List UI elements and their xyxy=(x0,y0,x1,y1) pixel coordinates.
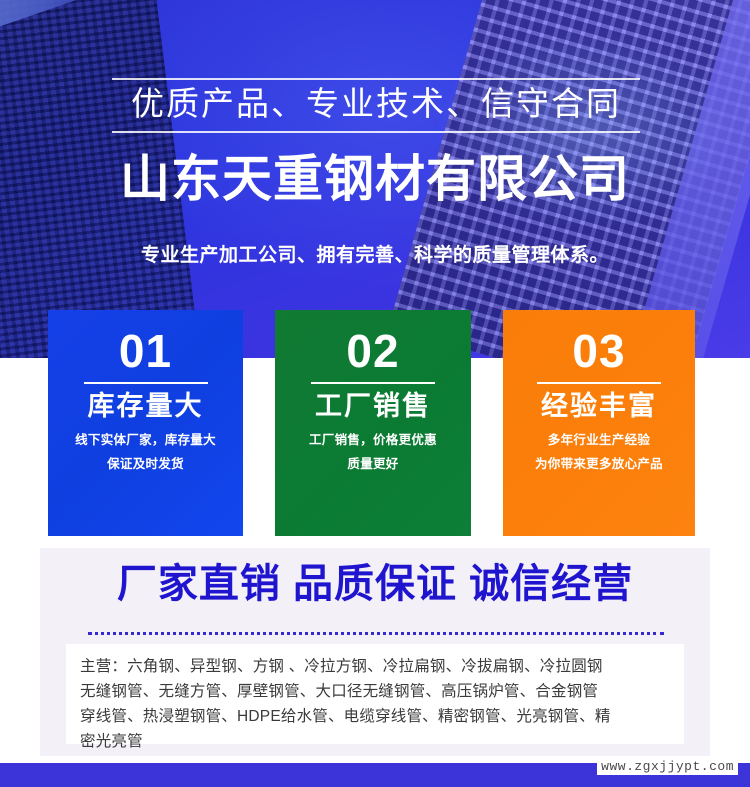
card-description-line: 工厂销售，价格更优惠 xyxy=(275,429,471,452)
company-name: 山东天重钢材有限公司 xyxy=(0,152,750,207)
promo-banner: 优质产品、专业技术、信守合同 山东天重钢材有限公司 专业生产加工公司、拥有完善、… xyxy=(0,0,750,787)
product-list-box: 主营：六角钢、异型钢、方钢 、冷拉方钢、冷拉扁钢、冷拔扁钢、冷拉圆钢 无缝钢管、… xyxy=(66,644,684,744)
card-title: 工厂销售 xyxy=(275,390,471,422)
feature-card-01: 01 库存量大 线下实体厂家，库存量大 保证及时发货 xyxy=(48,310,243,536)
hero-subtitle: 专业生产加工公司、拥有完善、科学的质量管理体系。 xyxy=(0,240,750,267)
card-description-line: 质量更好 xyxy=(275,453,471,476)
card-number: 03 xyxy=(503,328,695,374)
site-watermark: www.zgxjjypt.com xyxy=(597,758,738,775)
feature-card-03: 03 经验丰富 多年行业生产经验 为你带来更多放心产品 xyxy=(503,310,695,536)
card-description-line: 为你带来更多放心产品 xyxy=(503,453,695,476)
panel-headline: 厂家直销 品质保证 诚信经营 xyxy=(40,562,710,606)
card-description: 线下实体厂家，库存量大 保证及时发货 xyxy=(48,429,243,475)
card-description-line: 保证及时发货 xyxy=(48,453,243,476)
card-divider xyxy=(84,382,208,384)
hero-content: 优质产品、专业技术、信守合同 山东天重钢材有限公司 专业生产加工公司、拥有完善、… xyxy=(0,0,750,358)
hero-section: 优质产品、专业技术、信守合同 山东天重钢材有限公司 专业生产加工公司、拥有完善、… xyxy=(0,0,750,358)
bottom-panel: 厂家直销 品质保证 诚信经营 主营：六角钢、异型钢、方钢 、冷拉方钢、冷拉扁钢、… xyxy=(40,548,710,756)
card-title: 经验丰富 xyxy=(503,390,695,422)
card-description: 工厂销售，价格更优惠 质量更好 xyxy=(275,429,471,475)
card-description: 多年行业生产经验 为你带来更多放心产品 xyxy=(503,429,695,475)
card-number: 02 xyxy=(275,328,471,374)
feature-cards: 01 库存量大 线下实体厂家，库存量大 保证及时发货 02 工厂销售 工厂销售，… xyxy=(0,310,750,536)
card-divider xyxy=(537,382,661,384)
card-description-line: 多年行业生产经验 xyxy=(503,429,695,452)
card-title: 库存量大 xyxy=(48,390,243,422)
hero-tagline: 优质产品、专业技术、信守合同 xyxy=(112,87,640,122)
card-number: 01 xyxy=(48,328,243,374)
product-list-line: 密光亮管 xyxy=(80,729,670,754)
feature-card-02: 02 工厂销售 工厂销售，价格更优惠 质量更好 xyxy=(275,310,471,536)
product-list-line: 穿线管、热浸塑钢管、HDPE给水管、电缆穿线管、精密钢管、光亮钢管、精 xyxy=(80,704,670,729)
panel-dotted-divider xyxy=(88,632,664,635)
product-list-line: 无缝钢管、无缝方管、厚壁钢管、大口径无缝钢管、高压锅炉管、合金钢管 xyxy=(80,679,670,704)
card-divider xyxy=(311,382,435,384)
tagline-container: 优质产品、专业技术、信守合同 xyxy=(112,78,640,133)
product-list-line: 主营：六角钢、异型钢、方钢 、冷拉方钢、冷拉扁钢、冷拔扁钢、冷拉圆钢 xyxy=(80,654,670,679)
card-description-line: 线下实体厂家，库存量大 xyxy=(48,429,243,452)
